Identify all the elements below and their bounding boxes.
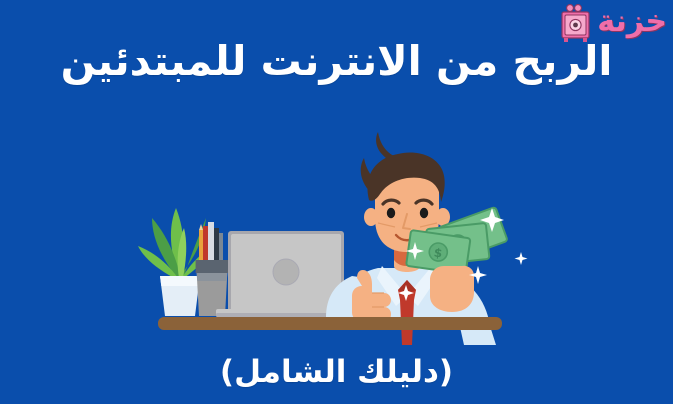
pen-cup [196,222,229,316]
page-title: الربح من الانترنت للمبتدئين [0,38,673,85]
cover-image: خزنة الربح من الانترنت للمبتدئين [0,0,673,404]
logo-text: خزنة [597,7,667,37]
desk [158,317,502,330]
hero-illustration: $ $ $ [0,100,673,345]
page-subtitle: (دليلك الشامل) [0,355,673,391]
